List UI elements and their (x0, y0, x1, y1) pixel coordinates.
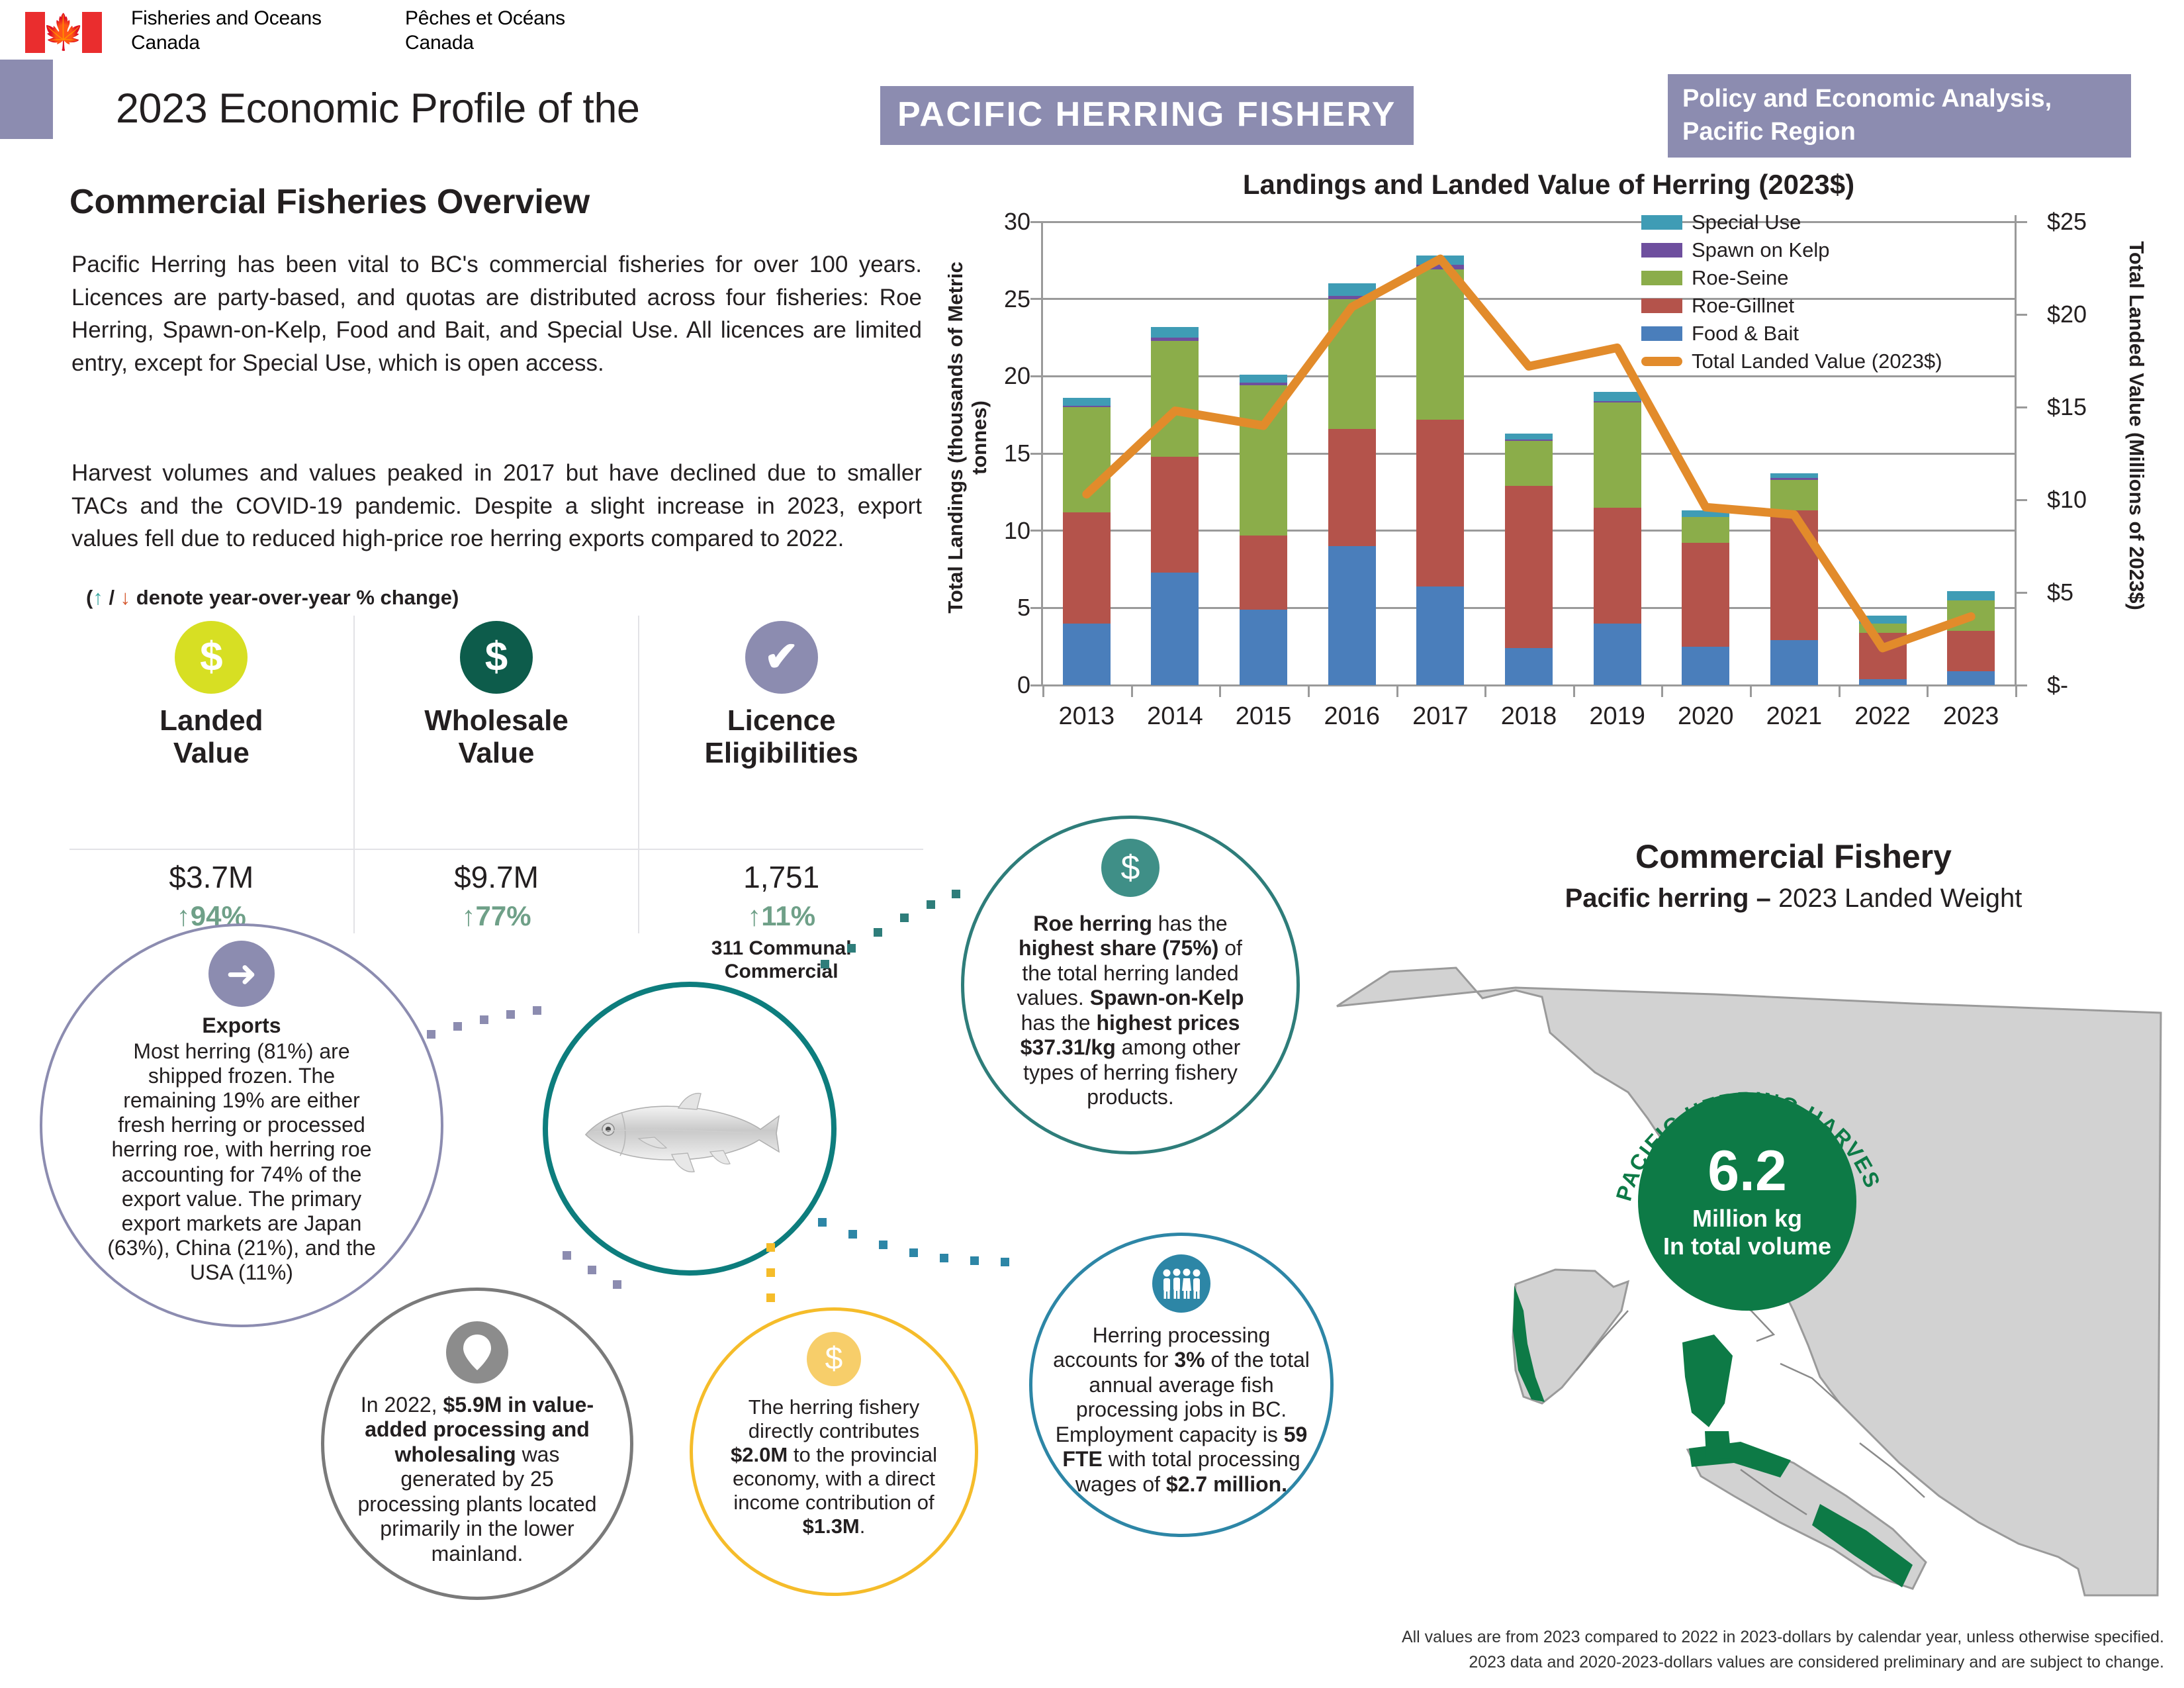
landings-chart: Landings and Landed Value of Herring (20… (927, 169, 2171, 784)
down-arrow-icon: ↓ (120, 586, 131, 609)
up-arrow-icon: ↑ (93, 586, 103, 609)
dollar-sign-icon: $ (1101, 839, 1160, 897)
map-panel-subtitle: Pacific herring – 2023 Landed Weight (1423, 884, 2164, 914)
footnote-line-2: 2023 data and 2020-2023-dollars values a… (1198, 1650, 2164, 1675)
chart-title: Landings and Landed Value of Herring (20… (927, 169, 2171, 201)
chart-y2-axis-label: Total Landed Value (Millions of 2023$) (2124, 214, 2148, 637)
legend-swatch-icon (1641, 215, 1682, 230)
legend-label: Special Use (1692, 211, 1801, 234)
legend-label: Roe-Gillnet (1692, 294, 1794, 318)
connector-dots-fish-jobs (814, 1211, 1046, 1297)
page-title: 2023 Economic Profile of the (116, 85, 639, 132)
title-chip: PACIFIC HERRING FISHERY (880, 86, 1414, 145)
harvest-number: 6.2 (1707, 1143, 1787, 1199)
bubble-gdp-text: The herring fishery directly contributes… (725, 1395, 943, 1538)
chart-y2-tick: $15 (2047, 393, 2087, 421)
overview-paragraph-1: Pacific Herring has been vital to BC's c… (71, 248, 922, 380)
chart-legend: Special UseSpawn on KelpRoe-SeineRoe-Gil… (1641, 209, 1942, 375)
header-accent-band (0, 60, 53, 139)
chart-y2-tick: $- (2047, 671, 2068, 699)
bubble-employment-text: Herring processing accounts for 3% of th… (1052, 1323, 1310, 1497)
herring-fish-illustration (580, 1083, 799, 1182)
chart-y-tick: 20 (1004, 362, 1030, 390)
legend-label: Roe-Seine (1692, 266, 1788, 290)
chart-y-tick: 15 (1004, 440, 1030, 467)
harvest-unit: Million kg (1692, 1205, 1802, 1233)
legend-swatch-icon (1641, 299, 1682, 313)
connector-dots-fish-value (556, 1244, 728, 1331)
chart-y-axis-label: Total Landings (thousands of Metric tonn… (944, 226, 991, 649)
dollar-sign-icon: $ (460, 621, 533, 694)
bubble-employment: Herring processing accounts for 3% of th… (1029, 1233, 1334, 1537)
legend-swatch-icon (1641, 326, 1682, 341)
key-stats-table: $ LandedValue $3.7M ↑94% $ WholesaleValu… (69, 616, 923, 933)
stat-delta: ↑77% (461, 900, 531, 932)
chart-y2-tick: $5 (2047, 579, 2073, 606)
stat-value: $3.7M (169, 859, 253, 895)
legend-note: (↑ / ↓ denote year-over-year % change) (86, 586, 459, 610)
connector-dots-fish-roe (814, 861, 999, 993)
checkmark-icon: ✔ (745, 621, 818, 694)
stat-wholesale-value: $ WholesaleValue $9.7M ↑77% (353, 616, 639, 933)
overview-heading: Commercial Fisheries Overview (69, 182, 590, 222)
stat-landed-value: $ LandedValue $3.7M ↑94% (69, 616, 353, 933)
bubble-exports: ➜ Exports Most herring (81%) are shipped… (40, 923, 443, 1327)
harvest-caption: In total volume (1663, 1233, 1831, 1260)
bubble-exports-text: Most herring (81%) are shipped frozen. T… (99, 1039, 384, 1285)
legend-label: Spawn on Kelp (1692, 238, 1830, 262)
bubble-gdp-contribution: $ The herring fishery directly contribut… (690, 1307, 978, 1596)
legend-label: Total Landed Value (2023$) (1692, 350, 1942, 373)
stat-delta: ↑11% (747, 900, 815, 932)
chart-y-tick: 25 (1004, 285, 1030, 313)
chart-y2-tick: $20 (2047, 301, 2087, 328)
legend-swatch-icon (1641, 271, 1682, 285)
chart-legend-item: Roe-Gillnet (1641, 292, 1942, 320)
bubble-value-added-text: In 2022, $5.9M in value-added processing… (348, 1393, 606, 1566)
legend-swatch-icon (1641, 357, 1682, 366)
chart-y-tick: 30 (1004, 208, 1030, 236)
map-panel-title: Commercial Fishery (1423, 837, 2164, 876)
overview-paragraph-2: Harvest volumes and values peaked in 201… (71, 457, 922, 555)
wordmark-french: Pêches et OcéansCanada (405, 7, 565, 55)
canada-flag-icon: 🍁 (25, 12, 102, 53)
footnote-line-1: All values are from 2023 compared to 202… (1198, 1625, 2164, 1650)
chart-legend-item: Spawn on Kelp (1641, 236, 1942, 264)
people-group-icon (1152, 1254, 1210, 1313)
chart-y2-tick: $10 (2047, 486, 2087, 514)
chart-legend-item: Special Use (1641, 209, 1942, 236)
harvest-total-badge: 6.2 Million kg In total volume (1638, 1092, 1856, 1311)
chart-legend-item: Total Landed Value (2023$) (1641, 348, 1942, 375)
dollar-sign-icon: $ (175, 621, 248, 694)
bubble-roe-herring-share: $ Roe herring has the highest share (75%… (961, 816, 1300, 1154)
org-unit-chip: Policy and Economic Analysis,Pacific Reg… (1668, 74, 2131, 158)
legend-label: Food & Bait (1692, 322, 1799, 346)
stat-label: WholesaleValue (424, 704, 569, 770)
chart-legend-item: Food & Bait (1641, 320, 1942, 348)
bubble-exports-heading: Exports (202, 1013, 281, 1038)
chart-y2-tick: $25 (2047, 208, 2087, 236)
chart-y-tick: 10 (1004, 517, 1030, 545)
bubble-value-added: In 2022, $5.9M in value-added processing… (321, 1288, 633, 1600)
stat-value: $9.7M (454, 859, 539, 895)
dollar-sign-icon: $ (807, 1332, 861, 1386)
stat-label: LandedValue (159, 704, 263, 770)
bubble-roe-text: Roe herring has the highest share (75%) … (1001, 912, 1259, 1110)
footnote: All values are from 2023 compared to 202… (1198, 1625, 2164, 1675)
legend-swatch-icon (1641, 243, 1682, 258)
stat-value: 1,751 (743, 859, 819, 895)
stat-label: LicenceEligibilities (705, 704, 858, 770)
arrow-right-icon: ➜ (208, 941, 275, 1007)
chart-y-tick: 0 (1017, 671, 1030, 699)
chart-legend-item: Roe-Seine (1641, 264, 1942, 292)
location-pin-icon (446, 1321, 508, 1383)
chart-y-tick: 5 (1017, 594, 1030, 622)
chart-x-tick: 2023 (1918, 702, 2024, 731)
wordmark-english: Fisheries and OceansCanada (131, 7, 322, 55)
